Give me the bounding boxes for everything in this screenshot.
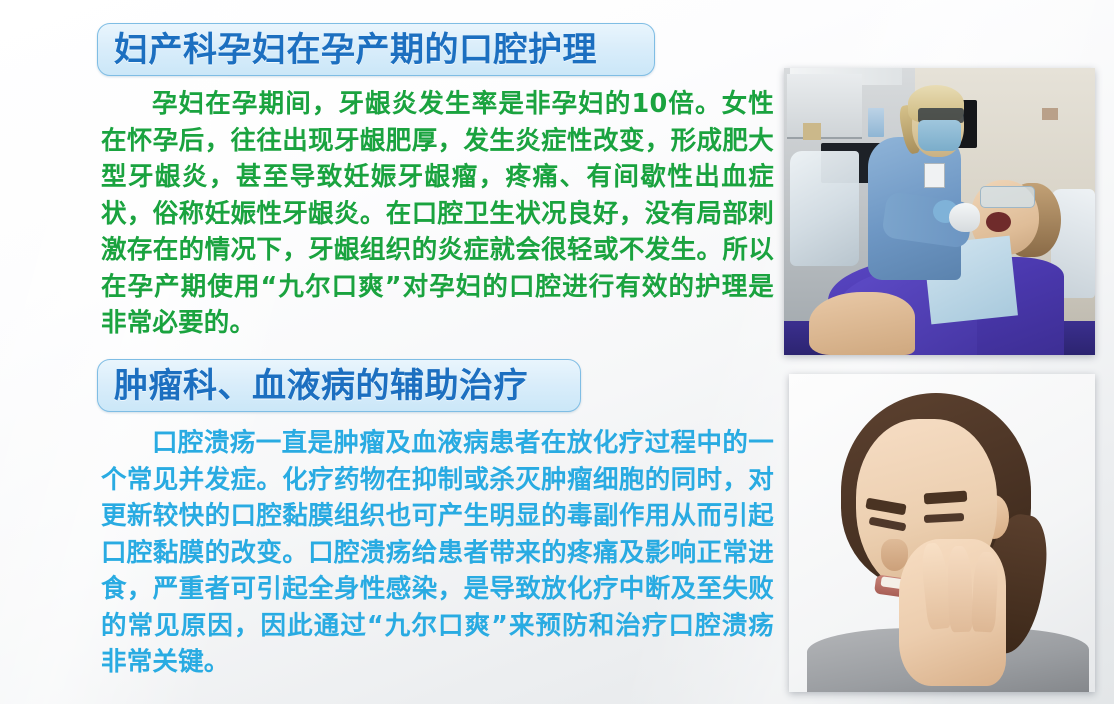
section-heading-label: 肿瘤科、血液病的辅助治疗: [114, 369, 528, 403]
photo-patient-open-mouth: [986, 212, 1011, 232]
section-body-obstetrics: 孕妇在孕期间，牙龈炎发生率是非孕妇的10倍。女性在怀孕后，往往出现牙龈肥厚，发生…: [101, 86, 774, 342]
photo-patient-arm: [809, 292, 915, 355]
photo-dentist-surgical-mask: [918, 120, 962, 152]
slide-canvas: 妇产科孕妇在孕产期的口腔护理 孕妇在孕期间，牙龈炎发生率是非孕妇的10倍。女性在…: [0, 0, 1114, 704]
section-heading-oncology: 肿瘤科、血液病的辅助治疗: [97, 359, 581, 412]
photo-dentist-glove-right: [949, 203, 980, 232]
photo-exit-sign: [1042, 108, 1058, 119]
section-body-oncology: 口腔溃疡一直是肿瘤及血液病患者在放化疗过程中的一个常见并发症。化疗药物在抑制或杀…: [101, 425, 774, 681]
photo-wall-sticker: [868, 108, 884, 137]
section-heading-label: 妇产科孕妇在孕产期的口腔护理: [114, 33, 597, 67]
photo-dentist-treating-pregnant-patient: [784, 68, 1095, 355]
photo-cabinet: [787, 74, 862, 139]
section-heading-obstetrics: 妇产科孕妇在孕产期的口腔护理: [97, 23, 655, 76]
photo-equipment-drape-left: [790, 151, 858, 266]
photo-woman-with-toothache: [789, 374, 1095, 692]
photo-wall-notice: [803, 123, 822, 140]
photo-patient-safety-goggles: [980, 186, 1035, 208]
photo-dentist-id-badge: [924, 163, 945, 188]
